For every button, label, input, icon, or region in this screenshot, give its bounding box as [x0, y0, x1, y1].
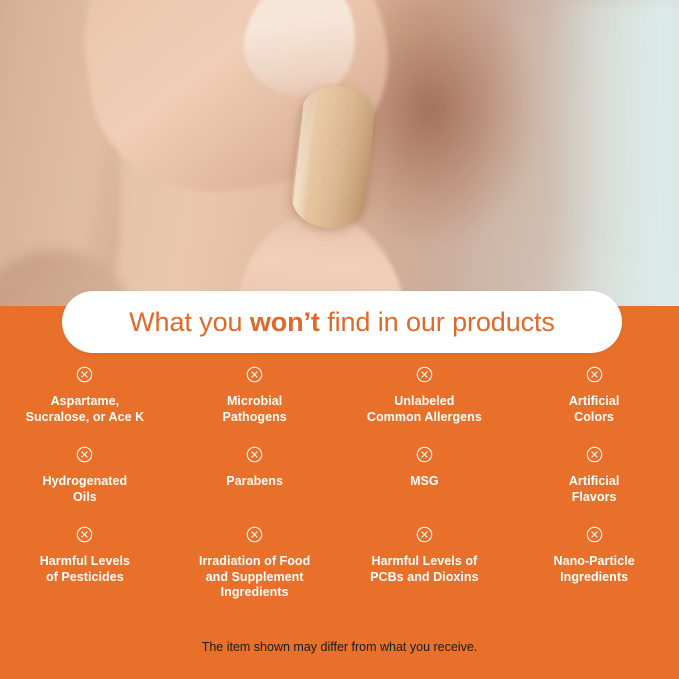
excluded-ingredients-grid: Aspartame, Sucralose, or Ace K Microbial… [0, 366, 679, 608]
circle-x-icon [76, 446, 93, 463]
exclusion-item-label: Irradiation of Food and Supplement Ingre… [199, 554, 310, 601]
exclusion-item: Parabens [170, 446, 340, 526]
product-infographic: What you won’t find in our products Aspa… [0, 0, 679, 679]
exclusion-item: Aspartame, Sucralose, or Ace K [0, 366, 170, 446]
exclusion-item-label: MSG [410, 474, 439, 490]
exclusion-item-label: Artificial Colors [569, 394, 620, 425]
exclusion-item: Harmful Levels of Pesticides [0, 526, 170, 608]
headline-before: What you [129, 307, 250, 337]
circle-x-icon [76, 526, 93, 543]
exclusion-item-label: Harmful Levels of Pesticides [40, 554, 130, 585]
footer: The item shown may differ from what you … [0, 638, 679, 656]
circle-x-icon [586, 446, 603, 463]
circle-x-icon [586, 526, 603, 543]
circle-x-icon [246, 526, 263, 543]
exclusion-item-label: Aspartame, Sucralose, or Ace K [26, 394, 145, 425]
headline-pill: What you won’t find in our products [62, 291, 622, 353]
exclusion-item: Microbial Pathogens [170, 366, 340, 446]
photo-right-light-wash [549, 0, 679, 312]
disclaimer-text: The item shown may differ from what you … [202, 640, 478, 654]
exclusion-item: Hydrogenated Oils [0, 446, 170, 526]
circle-x-icon [416, 446, 433, 463]
exclusion-item-label: Hydrogenated Oils [43, 474, 128, 505]
circle-x-icon [246, 366, 263, 383]
exclusion-item-label: Nano-Particle Ingredients [554, 554, 635, 585]
circle-x-icon [76, 366, 93, 383]
page-title: What you won’t find in our products [129, 309, 555, 336]
exclusion-item-label: Parabens [226, 474, 283, 490]
circle-x-icon [246, 446, 263, 463]
headline-emphasis: won’t [250, 307, 320, 337]
exclusion-item: Artificial Colors [509, 366, 679, 446]
circle-x-icon [416, 366, 433, 383]
exclusion-item: Nano-Particle Ingredients [509, 526, 679, 608]
exclusion-item-label: Microbial Pathogens [222, 394, 286, 425]
exclusion-item: Unlabeled Common Allergens [340, 366, 510, 446]
exclusion-item: Irradiation of Food and Supplement Ingre… [170, 526, 340, 608]
exclusion-item-label: Artificial Flavors [569, 474, 620, 505]
exclusion-item: Harmful Levels of PCBs and Dioxins [340, 526, 510, 608]
exclusion-item-label: Harmful Levels of PCBs and Dioxins [370, 554, 478, 585]
circle-x-icon [586, 366, 603, 383]
exclusion-item: MSG [340, 446, 510, 526]
exclusion-item-label: Unlabeled Common Allergens [367, 394, 482, 425]
product-photo [0, 0, 679, 312]
exclusion-item: Artificial Flavors [509, 446, 679, 526]
circle-x-icon [416, 526, 433, 543]
headline-after: find in our products [320, 307, 555, 337]
